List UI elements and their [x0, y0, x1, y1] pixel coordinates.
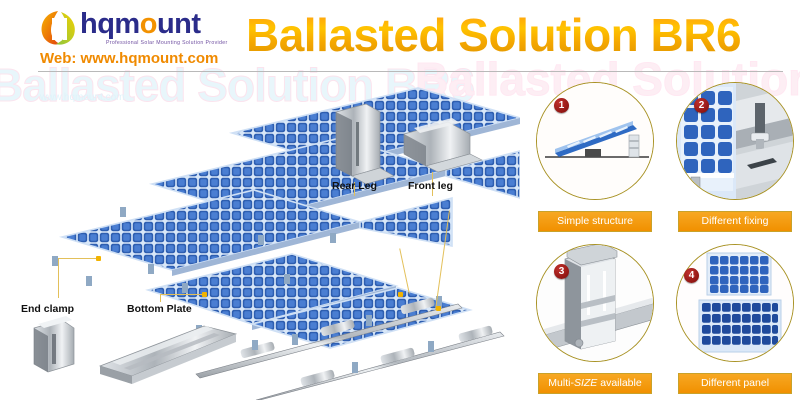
leader-dot-rail-b: [436, 306, 441, 311]
page-header: hqmount Professional Solar Mounting Solu…: [0, 0, 800, 74]
callout-label-end-clamp: End clamp: [21, 303, 74, 315]
leader-line-end-clamp-h: [58, 258, 98, 259]
feature-badge-2: 2: [694, 98, 709, 113]
caption-3-em: SIZE: [574, 377, 597, 389]
logo-word-prefix: hqm: [80, 8, 140, 40]
logo-word-suffix: unt: [157, 8, 201, 40]
leader-dot-end-clamp: [96, 256, 101, 261]
product-banner-page: Ballasted Solution BR6 www.hqmount.com B…: [0, 0, 800, 400]
feature-image-3: [536, 244, 654, 362]
leader-dot-bottom-plate: [202, 292, 207, 297]
logo-tagline: Professional Solar Mounting Solution Pro…: [106, 40, 228, 46]
feature-caption-4: Different panel: [678, 373, 792, 394]
adjustable-leg-photo: [537, 245, 654, 362]
feature-badge-1: 1: [554, 98, 569, 113]
array-illustration: [0, 78, 520, 400]
bottom-plate-component: [100, 326, 236, 384]
feature-image-4: [676, 244, 794, 362]
leader-dot-rail-a: [398, 292, 403, 297]
leader-line-end-clamp-v: [58, 258, 59, 298]
ballasted-solar-array-isometric-diagram: Rear Leg Front leg End clamp Bottom Plat…: [0, 78, 520, 400]
feature-badge-3: 3: [554, 264, 569, 279]
end-clamp-component: [34, 316, 74, 372]
website-url[interactable]: Web: www.hqmount.com: [40, 50, 218, 67]
logo-word-o: o: [140, 8, 157, 40]
feature-caption-2: Different fixing: [678, 211, 792, 232]
feature-cell-3[interactable]: 3 Multi-SIZE available: [530, 244, 660, 396]
feature-badge-4: 4: [684, 268, 699, 283]
feature-cell-1[interactable]: 1 Simple structure: [530, 82, 660, 234]
brand-logo[interactable]: hqmount Professional Solar Mounting Solu…: [38, 6, 233, 68]
feature-caption-3: Multi-SIZE available: [538, 373, 652, 394]
caption-3-pre: Multi-: [548, 377, 574, 389]
feature-cell-4[interactable]: 4 Different panel: [670, 244, 800, 396]
caption-3-post: available: [597, 377, 641, 389]
feature-caption-1: Simple structure: [538, 211, 652, 232]
feature-image-2: [676, 82, 794, 200]
logo-wordmark: hqmount: [80, 8, 201, 41]
page-title: Ballasted Solution BR6: [246, 6, 796, 64]
callout-label-front-leg: Front leg: [408, 180, 453, 192]
solar-panels-photo: [677, 245, 794, 362]
leaf-swirl-logo-icon: [38, 8, 80, 48]
feature-image-1: [536, 82, 654, 200]
leader-line-bottom-plate-v: [160, 294, 161, 302]
feature-grid: 1 Simple structure: [530, 82, 800, 397]
header-divider: [38, 71, 783, 72]
callout-label-rear-leg: Rear Leg: [332, 180, 377, 192]
leader-line-bottom-plate-h: [160, 294, 204, 295]
feature-cell-2[interactable]: 2 Different fixing: [670, 82, 800, 234]
callout-label-bottom-plate: Bottom Plate: [127, 303, 192, 315]
